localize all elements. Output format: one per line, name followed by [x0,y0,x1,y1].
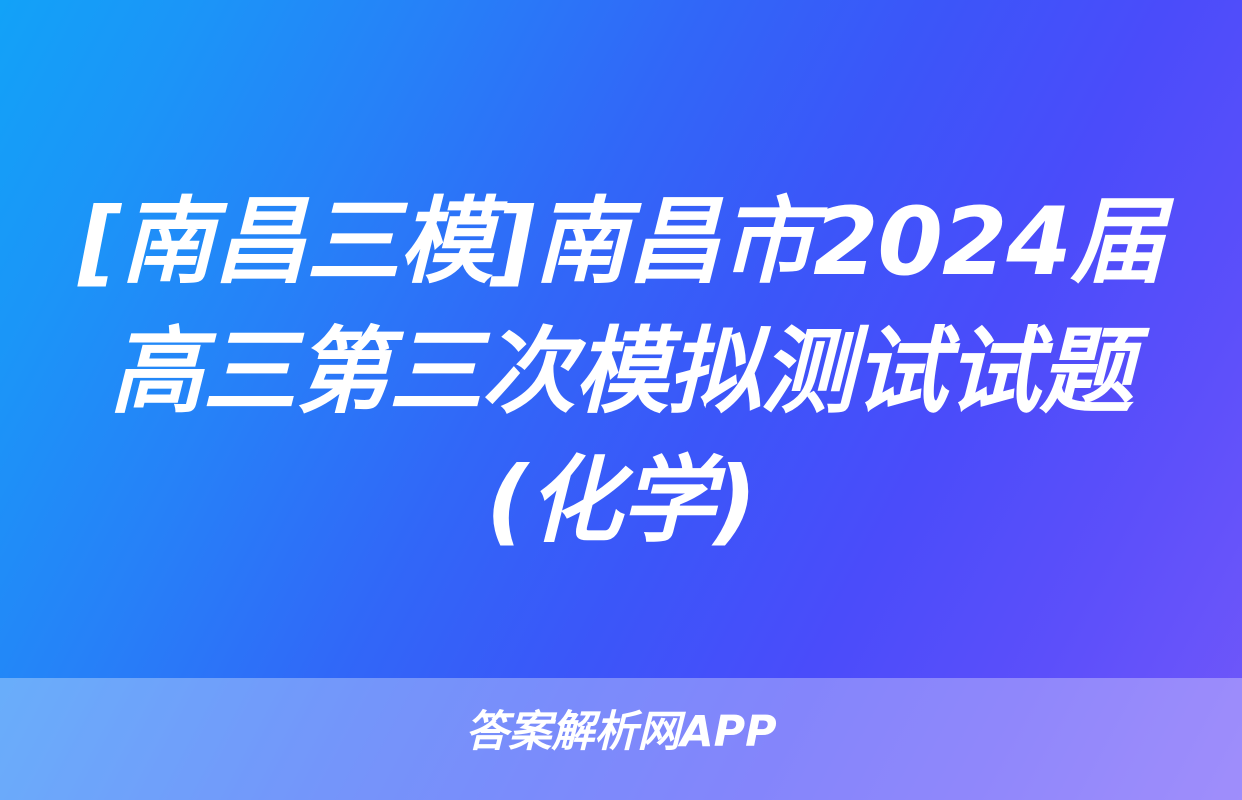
poster-title-block: [南昌三模]南昌市2024届高三第三次模拟测试试题(化学) [0,178,1242,567]
watermark-bar: 答案解析网APP [0,702,1242,762]
watermark-text: 答案解析网APP [465,711,776,754]
exam-poster: [南昌三模]南昌市2024届高三第三次模拟测试试题(化学) 答案解析网APP [0,0,1242,800]
page-title: [南昌三模]南昌市2024届高三第三次模拟测试试题(化学) [70,178,1172,567]
